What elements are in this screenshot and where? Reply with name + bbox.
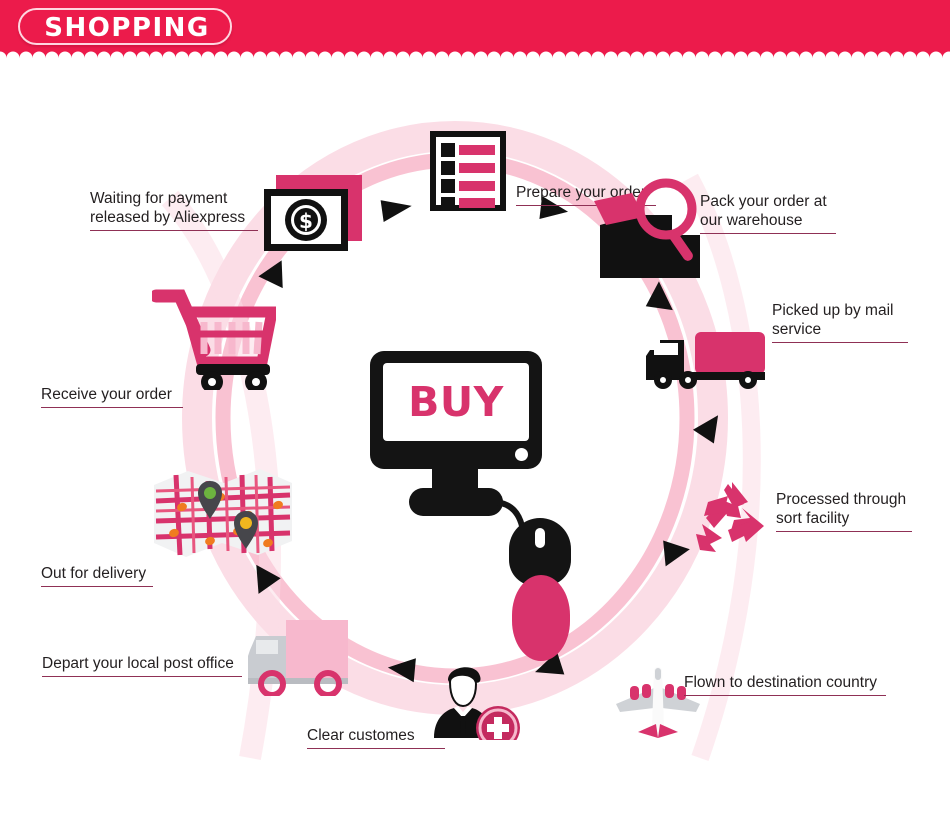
label-waiting-payment: Waiting for payment released by Aliexpre… [90,189,258,231]
mouse-body [512,575,570,661]
svg-text:$: $ [299,209,313,233]
label-picked-up: Picked up by mail service [772,301,908,343]
buy-label: BUY [383,363,529,441]
arrowhead [381,196,414,222]
label-clear-customs: Clear customes [307,726,445,749]
banknote-dollar-icon: $ [262,171,366,264]
shopping-cart-icon [152,280,276,395]
page-title: SHOPPING [20,10,234,47]
package-magnifier-icon [592,173,704,283]
label-out-for-delivery: Out for delivery [41,564,153,587]
label-depart-post-office: Depart your local post office [42,654,242,677]
label-receive-order: Receive your order [41,385,183,408]
monitor-stand-base [409,488,503,516]
label-sort-facility: Processed through sort facility [776,490,912,532]
monitor-led-indicator [515,448,528,461]
mouse-scroll-wheel [535,528,545,548]
truck-icon [644,330,768,395]
monitor-screen: BUY [383,363,529,441]
checklist-icon [428,129,508,218]
shopping-process-infographic: SHOPPING [0,0,950,816]
recycle-arrows-icon [694,478,772,561]
label-pack-order: Pack your order at our warehouse [700,192,836,234]
folded-map-icon [152,463,294,568]
customs-officer-icon [432,660,524,745]
title-pill: SHOPPING [18,8,232,45]
label-flown-destination: Flown to destination country [684,673,886,696]
process-cycle-diagram: Prepare your order Pack your order at ou… [0,58,950,816]
delivery-van-icon [244,606,354,701]
monitor-icon: BUY [370,351,542,469]
